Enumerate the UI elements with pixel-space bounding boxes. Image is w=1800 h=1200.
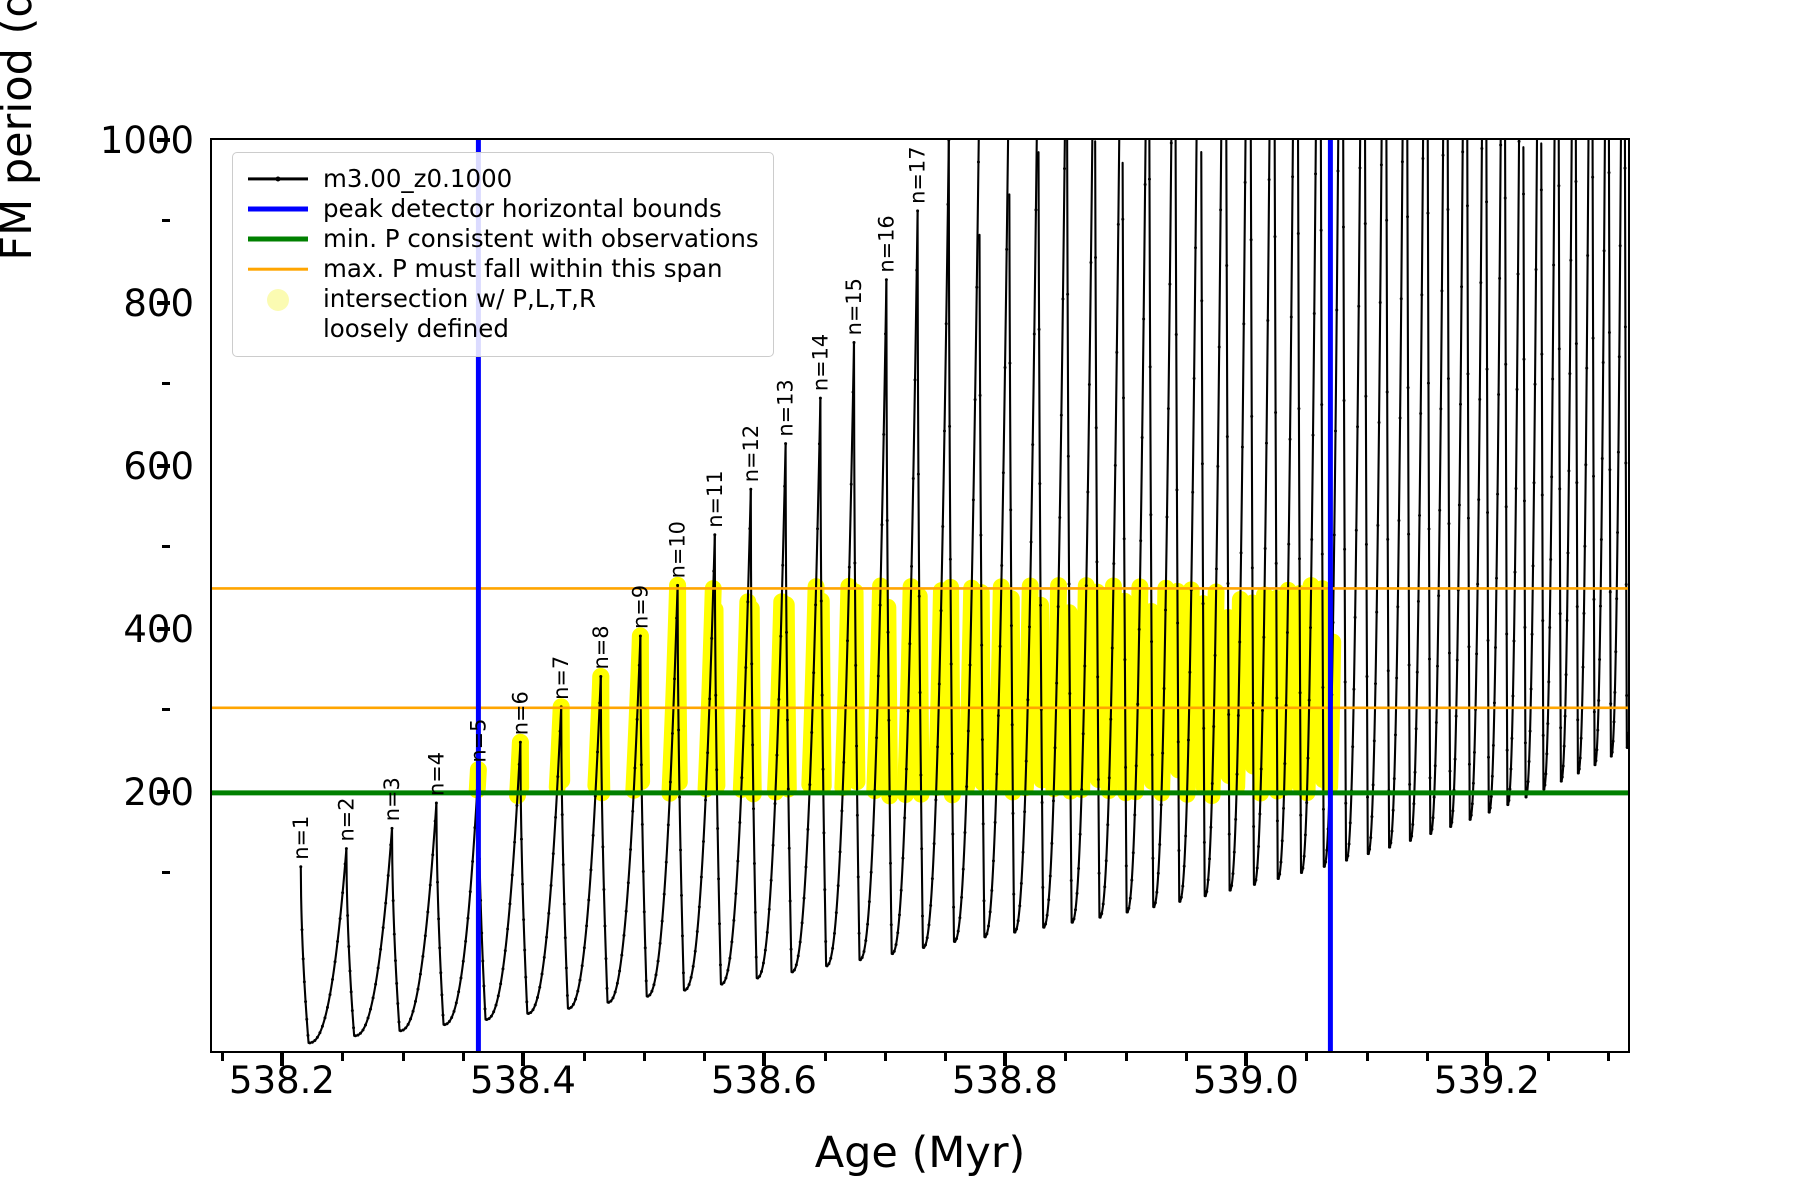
svg-text:n=12: n=12 <box>739 425 763 482</box>
svg-text:n=2: n=2 <box>334 797 358 841</box>
x-tick-mark-minor <box>1125 1053 1128 1061</box>
svg-text:n=9: n=9 <box>628 585 652 629</box>
x-tick-mark <box>280 1053 284 1066</box>
x-tick-label-5386: 538.6 <box>664 1062 864 1099</box>
y-tick-mark-minor <box>162 708 170 711</box>
x-tick-mark-minor <box>341 1053 344 1061</box>
svg-text:n=14: n=14 <box>808 334 832 391</box>
legend-item-series[interactable]: m3.00_z0.1000 <box>246 164 759 194</box>
svg-text:n=15: n=15 <box>842 278 866 335</box>
y-tick-mark-600 <box>157 464 170 468</box>
x-tick-mark-minor <box>1064 1053 1067 1061</box>
legend-label-max-span: max. P must fall within this span <box>323 255 723 282</box>
svg-text:n=1: n=1 <box>289 816 313 860</box>
x-tick-mark <box>521 1053 525 1066</box>
x-tick-mark-minor <box>402 1053 405 1061</box>
x-tick-mark-minor <box>221 1053 224 1061</box>
y-tick-mark-1000 <box>157 138 170 142</box>
svg-text:n=11: n=11 <box>703 470 727 527</box>
legend-item-min-period[interactable]: min. P consistent with observations <box>246 224 759 254</box>
y-axis-label-text: FM period (days) <box>0 0 42 340</box>
legend-item-intersection[interactable]: intersection w/ P,L,T,R loosely defined <box>246 284 759 344</box>
x-tick-mark-minor <box>1426 1053 1429 1061</box>
legend-label-min-period: min. P consistent with observations <box>323 225 759 252</box>
x-tick-label-5390: 539.0 <box>1146 1062 1346 1099</box>
x-tick-mark-minor <box>1607 1053 1610 1061</box>
y-tick-label-800: 800 <box>54 285 194 322</box>
y-tick-mark-minor <box>162 219 170 222</box>
x-tick-label-5388: 538.8 <box>905 1062 1105 1099</box>
y-tick-mark-200 <box>157 790 170 794</box>
svg-text:n=3: n=3 <box>380 777 404 821</box>
y-tick-mark-minor <box>162 871 170 874</box>
x-tick-mark <box>1485 1053 1489 1066</box>
svg-text:n=4: n=4 <box>424 752 448 796</box>
x-tick-mark-minor <box>462 1053 465 1061</box>
x-axis-label: Age (Myr) <box>210 1128 1630 1178</box>
legend-line-green-icon <box>246 226 310 252</box>
y-tick-label-1000: 1000 <box>54 122 194 159</box>
y-tick-mark-minor <box>162 545 170 548</box>
y-tick-label-600: 600 <box>54 448 194 485</box>
svg-text:n=7: n=7 <box>549 656 573 700</box>
legend-label-series: m3.00_z0.1000 <box>323 165 512 192</box>
y-axis-label: FM period (days) <box>0 0 42 340</box>
figure-canvas: FM period (days) 1000 800 600 400 200 53… <box>0 0 1800 1200</box>
x-tick-label-5384: 538.4 <box>423 1062 623 1099</box>
x-tick-mark-minor <box>643 1053 646 1061</box>
svg-text:n=10: n=10 <box>666 521 690 578</box>
legend-item-max-span[interactable]: max. P must fall within this span <box>246 254 759 284</box>
y-tick-mark-400 <box>157 627 170 631</box>
x-tick-mark-minor <box>824 1053 827 1061</box>
x-tick-mark-minor <box>944 1053 947 1061</box>
legend-line-blue-icon <box>246 196 310 222</box>
y-tick-label-400: 400 <box>54 611 194 648</box>
x-tick-mark-minor <box>884 1053 887 1061</box>
x-tick-mark-minor <box>1305 1053 1308 1061</box>
x-tick-mark-minor <box>703 1053 706 1061</box>
y-tick-mark-800 <box>157 301 170 305</box>
y-tick-label-200: 200 <box>54 774 194 811</box>
x-tick-mark <box>1003 1053 1007 1066</box>
y-tick-mark-minor <box>162 382 170 385</box>
svg-text:n=17: n=17 <box>906 147 930 204</box>
legend-label-intersection-line2: loosely defined <box>323 314 509 343</box>
svg-text:n=6: n=6 <box>508 691 532 735</box>
legend-label-peak-bounds: peak detector horizontal bounds <box>323 195 722 222</box>
x-tick-label-5382: 538.2 <box>182 1062 382 1099</box>
x-tick-mark-minor <box>1366 1053 1369 1061</box>
legend-item-peak-bounds[interactable]: peak detector horizontal bounds <box>246 194 759 224</box>
legend-label-intersection-line1: intersection w/ P,L,T,R <box>323 284 596 313</box>
svg-text:n=13: n=13 <box>774 379 798 436</box>
legend-line-orange-icon <box>246 256 310 282</box>
svg-text:n=8: n=8 <box>589 625 613 669</box>
x-tick-mark-minor <box>1185 1053 1188 1061</box>
x-tick-mark-minor <box>583 1053 586 1061</box>
svg-text:n=5: n=5 <box>466 719 490 763</box>
x-tick-mark-minor <box>1547 1053 1550 1061</box>
x-tick-label-5392: 539.2 <box>1387 1062 1587 1099</box>
x-tick-mark <box>1244 1053 1248 1066</box>
legend-dot-yellow-icon <box>246 284 310 340</box>
svg-text:n=16: n=16 <box>874 215 898 272</box>
legend-line-black-icon <box>246 166 310 192</box>
x-tick-mark <box>762 1053 766 1066</box>
legend: m3.00_z0.1000 peak detector horizontal b… <box>232 152 774 357</box>
